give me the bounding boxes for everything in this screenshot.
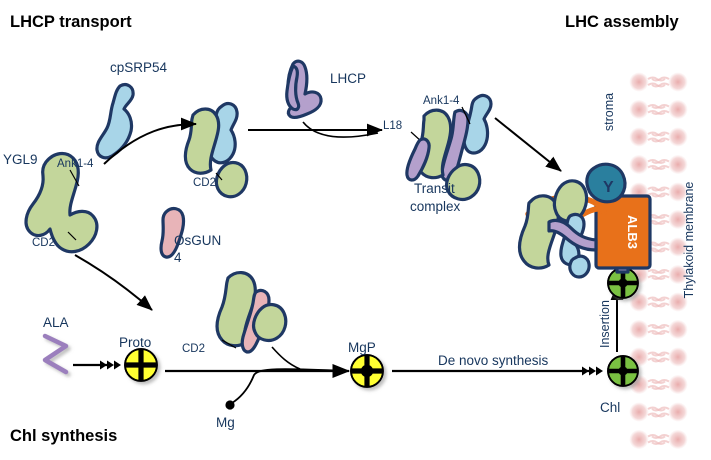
label-transit-complex-line2: complex: [410, 199, 461, 214]
label-ala: ALA: [43, 315, 69, 330]
label-osgun4-line1: OsGUN: [174, 233, 221, 248]
chl-molecule-lower: [608, 356, 638, 386]
label-cd2-gun4complex: CD2: [182, 343, 205, 355]
label-stroma: stroma: [602, 93, 616, 131]
label-ygl9: YGL9: [3, 152, 38, 167]
title-lhc-assembly: LHC assembly: [565, 13, 680, 31]
label-osgun4-line2: 4: [174, 250, 182, 265]
title-lhcp-transport: LHCP transport: [10, 13, 132, 31]
label-mgp: MgP: [348, 340, 376, 355]
label-y-glyph: Y: [603, 179, 614, 196]
label-insertion: Insertion: [598, 300, 612, 348]
label-cd2-ygl9: CD2: [32, 237, 55, 249]
label-ank1-4-ygl9: Ank1-4: [57, 158, 94, 170]
label-chl: Chl: [600, 400, 620, 415]
label-ank1-4-transit: Ank1-4: [423, 95, 460, 107]
proto-molecule: [125, 349, 157, 381]
diagram-canvas: LHCP transport LHC assembly Chl synthesi…: [0, 0, 711, 460]
label-cpsrp54: cpSRP54: [110, 60, 168, 75]
label-lhcp: LHCP: [330, 71, 366, 86]
label-mg: Mg: [216, 415, 235, 430]
label-proto: Proto: [119, 335, 151, 350]
label-transit-complex-line1: Transit: [414, 181, 455, 196]
label-thylakoid-membrane: Thylakoid membrane: [682, 182, 696, 299]
title-chl-synthesis: Chl synthesis: [10, 427, 117, 445]
label-alb3: ALB3: [625, 215, 640, 249]
alb3-box: [596, 196, 650, 268]
label-de-novo-synthesis: De novo synthesis: [438, 353, 549, 368]
mg-dot: [225, 400, 234, 409]
label-l18: L18: [383, 120, 402, 132]
mgp-molecule: [351, 355, 383, 387]
label-cd2-mid-complex: CD2: [193, 177, 216, 189]
